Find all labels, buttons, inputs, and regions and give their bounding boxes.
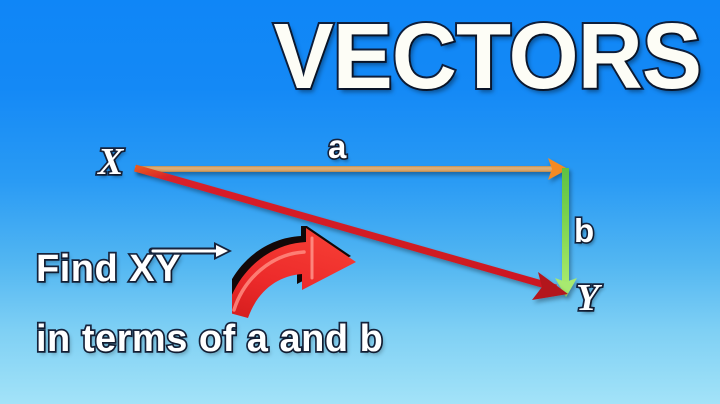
point-label-y: Y — [576, 276, 599, 320]
vector-label-b: b — [574, 212, 594, 250]
vector-label-a: a — [328, 128, 346, 166]
vector-arrow-overbar-icon — [148, 240, 234, 262]
caption-line-2: in terms of a and b — [36, 318, 383, 361]
vector-a-arrow — [135, 158, 568, 180]
point-label-x: X — [98, 140, 123, 184]
curved-arrow-icon — [232, 226, 372, 318]
video-thumbnail-canvas: VECTORS — [0, 0, 720, 404]
